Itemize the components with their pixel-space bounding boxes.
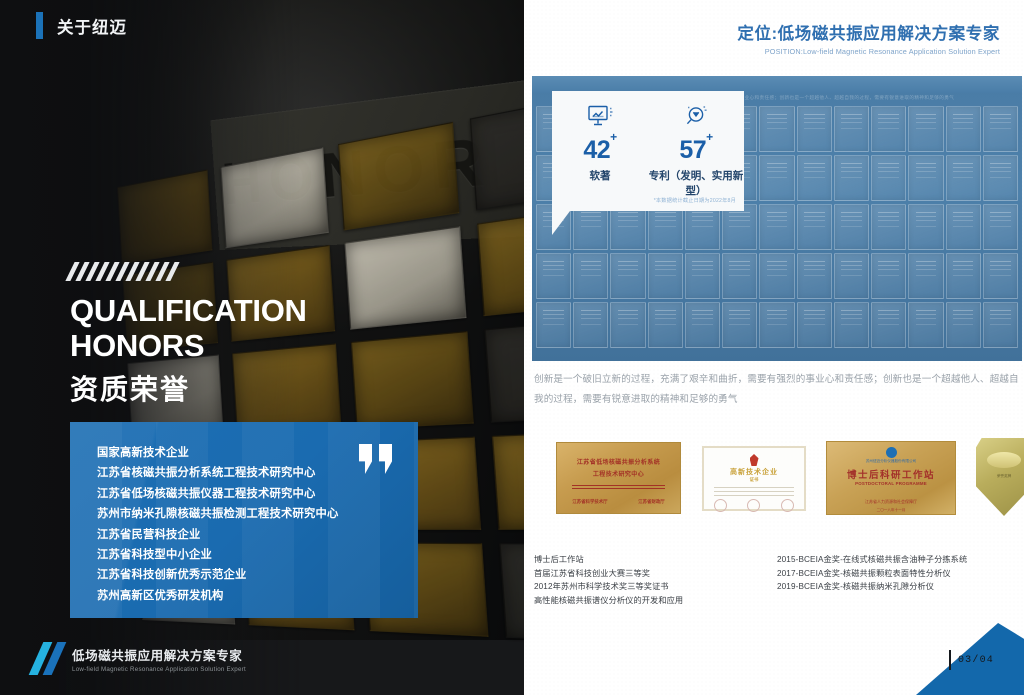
certificate-frame [834, 155, 869, 201]
org-logo-icon [886, 447, 897, 458]
page-title: QUALIFICATION HONORS 资质荣誉 [70, 262, 307, 408]
position-header: 定位:低场磁共振应用解决方案专家 POSITION:Low-field Magn… [737, 20, 1000, 56]
certificate-frame [722, 302, 757, 348]
monitor-chart-icon [552, 104, 648, 130]
slide-page: HONOR [0, 0, 1024, 695]
plaque2-date: 二〇一八年十一月 [827, 508, 955, 513]
certificate-frame [946, 155, 981, 201]
tag-label: 关于纽迈 [57, 14, 127, 38]
awards-text-lists: 博士后工作站 首届江苏省科技创业大赛三等奖 2012年苏州市科学技术奖三等奖证书… [534, 553, 1020, 607]
list-item: 江苏省民营科技企业 [97, 525, 418, 545]
certificate-frame [685, 302, 720, 348]
callout-tail [552, 211, 570, 235]
position-title-en: POSITION:Low-field Magnetic Resonance Ap… [737, 47, 1000, 56]
certificate-frame [648, 253, 683, 299]
certificate-frame [871, 253, 906, 299]
list-item: 苏州高新区优秀研发机构 [97, 586, 418, 606]
certificate-frame [834, 302, 869, 348]
certificate-frame [908, 155, 943, 201]
certificate-frame [908, 106, 943, 152]
page-number-rule [949, 650, 951, 670]
certificate-frame [797, 204, 832, 250]
certificate-frame [983, 106, 1018, 152]
certificate-frame [871, 302, 906, 348]
title-cn: 资质荣誉 [70, 368, 307, 408]
plaque2-issuer: 江苏省人力资源和社会保障厅 [827, 499, 955, 505]
certificate-frame [834, 106, 869, 152]
certificate-frame [946, 204, 981, 250]
certificate-frame [573, 253, 608, 299]
stat-label-1: 软著 [552, 168, 648, 198]
footer-tagline-cn: 低场磁共振应用解决方案专家 [72, 645, 246, 664]
certificate-subtitle: 证书 [704, 477, 804, 483]
quote-mark-icon [359, 444, 392, 474]
plaque2-en: POSTDOCTORAL PROGRAMME [827, 481, 955, 486]
plaque [344, 226, 466, 330]
certificate-frame [759, 204, 794, 250]
qualification-box: 国家高新技术企业 江苏省核磁共振分析系统工程技术研究中心 江苏省低场核磁共振仪器… [70, 422, 418, 618]
certificate-frame [946, 253, 981, 299]
stats-icon-row [552, 91, 744, 130]
list-item: 江苏省科技型中小企业 [97, 545, 418, 565]
certificate-stamps [704, 499, 804, 512]
certificate-frame [797, 302, 832, 348]
footer-tagline-en: Low-field Magnetic Resonance Application… [72, 666, 246, 673]
stat-value-2: 57+ [648, 136, 744, 165]
list-item: 江苏省科技创新优秀示范企业 [97, 565, 418, 585]
certificate-frame [797, 155, 832, 201]
certificate-frame [536, 253, 571, 299]
list-item: 2015-BCEIA金奖-在线式核磁共振含油种子分拣系统 [777, 553, 1020, 567]
right-white-panel: 定位:低场磁共振应用解决方案专家 POSITION:Low-field Magn… [524, 0, 1024, 695]
plaque2-title: 博士后科研工作站 [827, 467, 955, 481]
position-title-cn: 定位:低场磁共振应用解决方案专家 [737, 20, 1000, 44]
certificate-frame [834, 204, 869, 250]
certificate-frame [983, 155, 1018, 201]
plaque [477, 205, 524, 317]
section-tag: 关于纽迈 [36, 12, 127, 39]
certificate-frame [648, 302, 683, 348]
plaque [350, 331, 473, 430]
certificate-frame [536, 302, 571, 348]
certificate-frame [834, 253, 869, 299]
certificate-frame [797, 253, 832, 299]
title-en-line1: QUALIFICATION [70, 293, 307, 328]
plaque [484, 317, 524, 423]
tag-accent-bar [36, 12, 43, 39]
certificate-frame [983, 302, 1018, 348]
stat-sup: + [610, 130, 617, 144]
stats-number-row: 42+ 57+ [552, 136, 744, 165]
certificate-frame [722, 253, 757, 299]
award-plaque-1: 江苏省低场核磁共振分析系统 工程技术研究中心 江苏省科学技术厅 江苏省财政厅 [556, 442, 681, 514]
certificate-frame [759, 155, 794, 201]
awards-list-left: 博士后工作站 首届江苏省科技创业大赛三等奖 2012年苏州市科学技术奖三等奖证书… [534, 553, 777, 607]
plaque1-line1: 江苏省低场核磁共振分析系统 [557, 457, 680, 466]
plaque1-footer: 江苏省科学技术厅 江苏省财政厅 [557, 499, 680, 505]
plaque1-issuer-left: 江苏省科学技术厅 [572, 499, 607, 505]
certificate-frame [946, 302, 981, 348]
certificate-frame [759, 302, 794, 348]
list-item: 江苏省低场核磁共振仪器工程技术研究中心 [97, 484, 418, 504]
certificate-frame [610, 253, 645, 299]
stat-number: 42 [583, 136, 610, 164]
list-item: 2012年苏州市科学技术奖三等奖证书 [534, 580, 777, 594]
list-item: 苏州市纳米孔隙核磁共振检测工程技术研究中心 [97, 504, 418, 524]
award-plaque-2: 苏州纽迈分析仪器股份有限公司 博士后科研工作站 POSTDOCTORAL PRO… [826, 441, 956, 515]
footer-slash-icon [36, 642, 59, 675]
shield-label: 荣誉奖牌 [976, 474, 1024, 479]
plaque [499, 543, 524, 644]
stats-callout: 42+ 57+ 软著 专利（发明、实用新型） *本数据统计截止日期为2022年8… [552, 91, 744, 211]
slash-decoration-icon [70, 262, 307, 281]
plaque [491, 430, 524, 530]
page-number: 03/04 [949, 650, 994, 670]
certificate-frame [759, 253, 794, 299]
certificate-title: 高新技术企业 [704, 467, 804, 477]
description-paragraph: 创新是一个破旧立新的过程，充满了艰辛和曲折，需要有强烈的事业心和责任感；创新也是… [534, 370, 1020, 410]
certificate-frame [871, 106, 906, 152]
stats-label-row: 软著 专利（发明、实用新型） [552, 168, 744, 198]
magnifier-idea-icon [648, 104, 744, 130]
footer-brand: 低场磁共振应用解决方案专家 Low-field Magnetic Resonan… [36, 642, 246, 675]
certificate-frame [871, 204, 906, 250]
stat-number: 57 [679, 136, 706, 164]
stat-label-2: 专利（发明、实用新型） [648, 168, 744, 198]
certificate-frame [685, 253, 720, 299]
stat-value-1: 42+ [552, 136, 648, 165]
stats-footnote: *本数据统计截止日期为2022年8月 [654, 197, 736, 204]
seal-icon [750, 454, 759, 466]
certificate-wall-photo: 创新是一个破旧立新的过程，充满了艰辛和曲折，需要有强烈的事业心和责任感；创新也是… [532, 76, 1022, 361]
shield-badge-icon [987, 452, 1022, 468]
plaque2-org: 苏州纽迈分析仪器股份有限公司 [827, 459, 955, 464]
certificate-frame [797, 106, 832, 152]
plaque1-issuer-right: 江苏省财政厅 [638, 499, 664, 505]
stat-sup: + [706, 130, 713, 144]
certificate-frame [573, 302, 608, 348]
certificate-frame [759, 106, 794, 152]
certificate-frame [871, 155, 906, 201]
certificate-frame [946, 106, 981, 152]
certificate-frame [908, 253, 943, 299]
awards-photo-row: 江苏省低场核磁共振分析系统 工程技术研究中心 江苏省科学技术厅 江苏省财政厅 高… [534, 430, 1020, 540]
awards-list-right: 2015-BCEIA金奖-在线式核磁共振含油种子分拣系统 2017-BCEIA金… [777, 553, 1020, 607]
plaque1-line2: 工程技术研究中心 [557, 469, 680, 478]
certificate-frame [983, 204, 1018, 250]
certificate-frame [908, 204, 943, 250]
list-item: 2019-BCEIA金奖-核磁共振纳米孔隙分析仪 [777, 580, 1020, 594]
list-item: 博士后工作站 [534, 553, 777, 567]
certificate-frame [908, 302, 943, 348]
award-certificate: 高新技术企业 证书 [702, 446, 806, 511]
page-number-text: 03/04 [958, 655, 994, 666]
list-item: 首届江苏省科技创业大赛三等奖 [534, 567, 777, 581]
left-dark-panel: HONOR [0, 0, 524, 695]
certificate-frame [610, 302, 645, 348]
list-item: 高性能核磁共振谱仪分析仪的开发和应用 [534, 594, 777, 608]
title-en-line2: HONORS [70, 328, 307, 363]
plaque1-divider [572, 485, 665, 486]
certificate-text-lines [714, 487, 794, 496]
list-item: 2017-BCEIA金奖-核磁共振颗粒表面特性分析仪 [777, 567, 1020, 581]
award-shield: 荣誉奖牌 [976, 438, 1024, 516]
certificate-frame [983, 253, 1018, 299]
plaque [117, 169, 213, 264]
